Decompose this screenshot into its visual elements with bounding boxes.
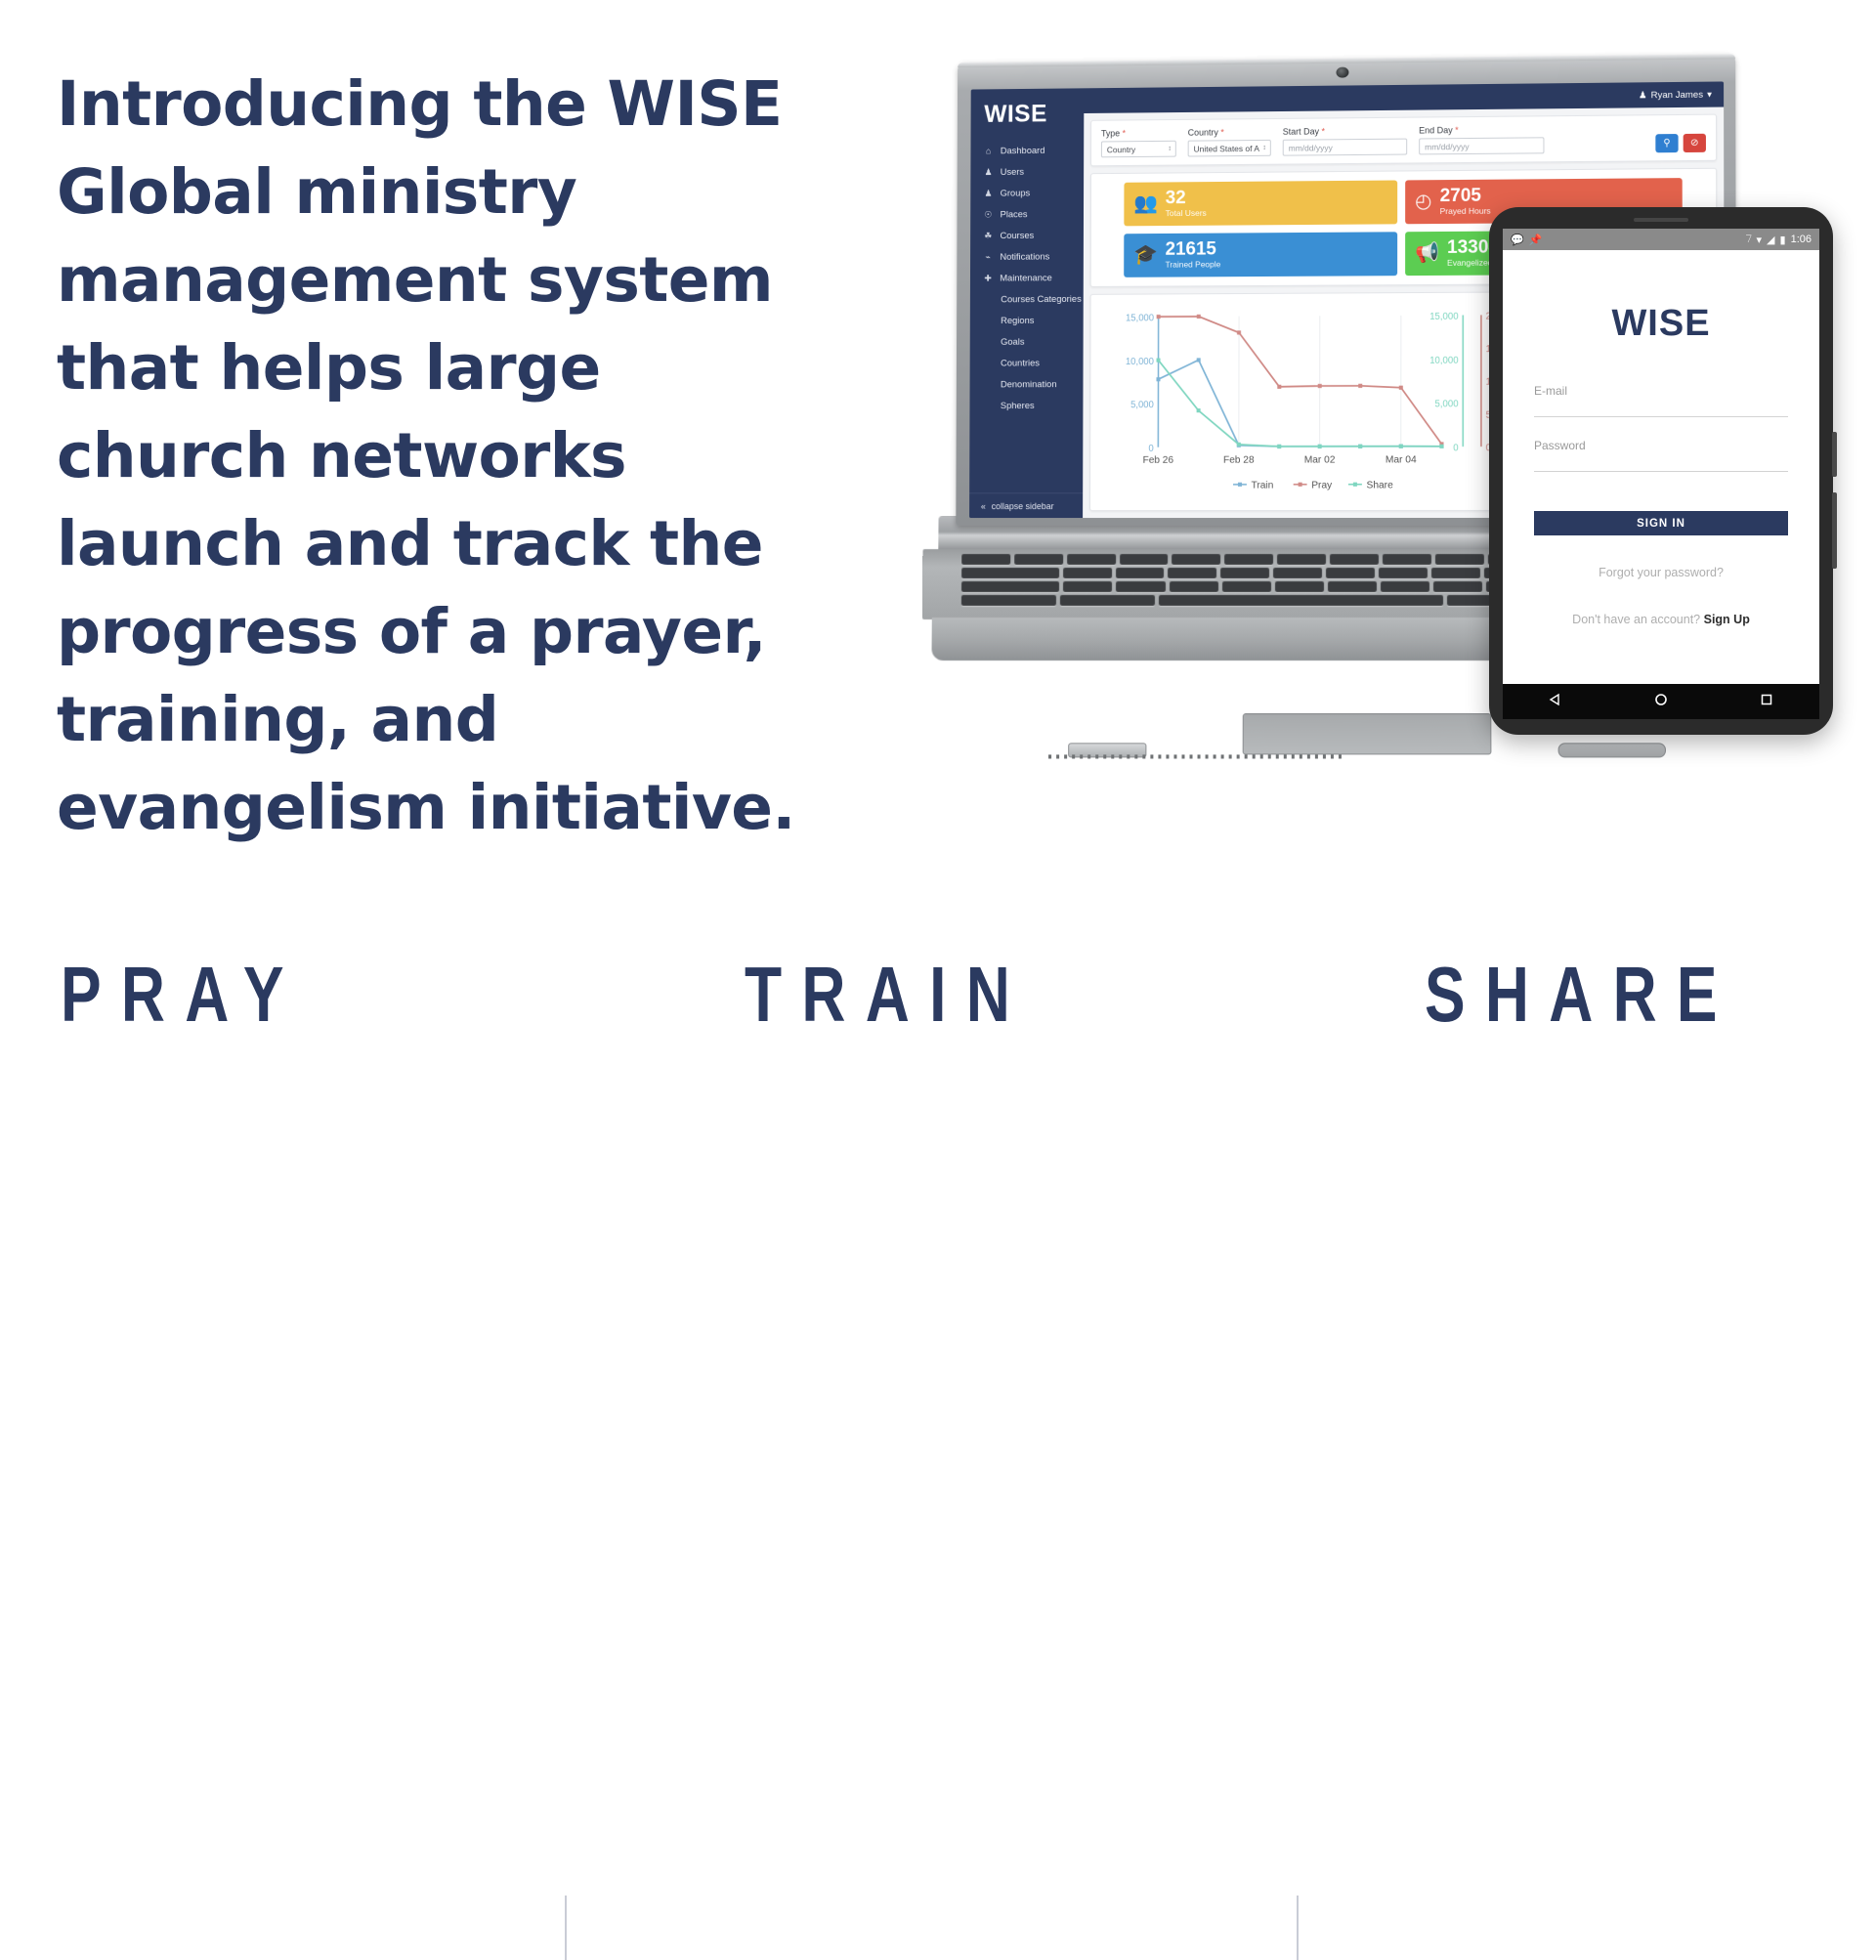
sidebar-item-label: Maintenance (1000, 273, 1051, 283)
filter-type: Type * Country↕ (1101, 128, 1176, 157)
laptop-vents (1048, 754, 1343, 758)
svg-text:Feb 26: Feb 26 (1143, 454, 1174, 465)
sidebar-item-label: Places (1001, 209, 1028, 220)
filter-bar: Type * Country↕ Country * United States … (1090, 114, 1717, 167)
sidebar-item-label: Courses (1000, 230, 1034, 240)
user-name: Ryan James (1651, 89, 1703, 101)
password-input-underline[interactable] (1534, 452, 1788, 472)
filter-label: Type * (1101, 128, 1176, 139)
sidebar-item-regions[interactable]: Regions (970, 310, 1084, 331)
filter-end-day: End Day * mm/dd/yyyy (1419, 124, 1544, 154)
sidebar-nav: ⌂Dashboard ♟Users ♟Groups ☉Places ☘Cours… (970, 140, 1084, 289)
stat-label: Evangelized (1447, 257, 1492, 267)
end-day-input[interactable]: mm/dd/yyyy (1419, 137, 1544, 154)
wifi-icon: ▾ (1757, 234, 1763, 246)
svg-text:Train: Train (1252, 480, 1274, 490)
webcam-icon (1336, 67, 1348, 78)
sign-up-link[interactable]: Sign Up (1704, 613, 1750, 626)
svg-text:10,000: 10,000 (1126, 357, 1155, 367)
svg-text:15,000: 15,000 (1126, 313, 1155, 323)
filter-label: End Day * (1419, 124, 1544, 135)
stat-label: Total Users (1166, 208, 1207, 218)
required-marker: * (1322, 126, 1326, 136)
page-title: Introducing the WISE Global ministry man… (57, 61, 877, 852)
recents-button[interactable] (1759, 692, 1774, 712)
place-pin-icon: ☉ (983, 209, 994, 220)
footer-bar: PRAY TRAIN SHARE (0, 933, 1876, 1055)
start-day-placeholder: mm/dd/yyyy (1289, 143, 1333, 152)
app-logo: WISE (971, 88, 1085, 140)
email-label: E-mail (1534, 384, 1788, 398)
svg-text:10,000: 10,000 (1429, 355, 1459, 365)
plus-icon: ✚ (983, 273, 994, 283)
select-arrows-icon: ↕ (1262, 145, 1265, 151)
filter-label: Country * (1188, 127, 1271, 138)
forgot-password-link[interactable]: Forgot your password? (1534, 566, 1788, 579)
sidebar-item-courses-categories[interactable]: Courses Categories (970, 288, 1084, 310)
status-time: 1:06 (1791, 234, 1812, 245)
svg-text:Pray: Pray (1311, 480, 1333, 490)
user-icon: ♟ (1639, 90, 1647, 101)
country-select[interactable]: United States of A↕ (1188, 140, 1271, 157)
users-icon: ♟ (983, 167, 994, 178)
phone-speaker (1634, 218, 1688, 222)
email-input-underline[interactable] (1534, 398, 1788, 417)
sidebar-item-notifications[interactable]: ⌁Notifications (970, 245, 1084, 267)
sidebar-item-label: Notifications (1000, 251, 1049, 262)
message-icon: 💬 (1511, 234, 1524, 246)
stat-card-total-users[interactable]: 👥 32 Total Users (1124, 181, 1397, 227)
signal-icon: ◢ (1767, 234, 1774, 246)
stat-value: 2705 (1440, 187, 1491, 206)
phone-power-button[interactable] (1832, 432, 1837, 477)
required-marker: * (1220, 127, 1223, 137)
password-field[interactable]: Password (1534, 439, 1788, 472)
bell-icon: ⌁ (983, 251, 994, 262)
stat-value: 32 (1166, 189, 1207, 208)
courses-icon: ☘ (983, 231, 994, 241)
svg-text:0: 0 (1148, 444, 1154, 454)
home-button[interactable] (1653, 692, 1669, 712)
laptop-lid-edge (958, 54, 1735, 67)
cancel-icon: ⊘ (1690, 138, 1699, 149)
graduation-cap-icon: 🎓 (1133, 245, 1158, 265)
svg-text:Feb 28: Feb 28 (1223, 454, 1255, 465)
svg-text:15,000: 15,000 (1429, 311, 1459, 321)
type-select[interactable]: Country↕ (1101, 141, 1176, 158)
stat-label: Trained People (1166, 259, 1221, 269)
password-label: Password (1534, 439, 1788, 452)
slide-canvas: Introducing the WISE Global ministry man… (0, 0, 1876, 1055)
pin-icon: 📌 (1529, 234, 1543, 246)
footer-divider (565, 1896, 567, 1960)
phone-app-logo: WISE (1534, 303, 1788, 345)
caret-down-icon[interactable]: ▾ (1707, 89, 1712, 100)
filter-start-day: Start Day * mm/dd/yyyy (1283, 126, 1407, 156)
dashboard-icon: ⌂ (983, 146, 994, 155)
collapse-sidebar-button[interactable]: « collapse sidebar (969, 492, 1083, 518)
laptop-trackpad (1243, 713, 1492, 754)
signup-row: Don't have an account? Sign Up (1534, 613, 1788, 626)
sidebar-subnav: Courses Categories Regions Goals Countri… (969, 288, 1083, 416)
stat-label: Prayed Hours (1440, 206, 1491, 216)
sidebar-item-spheres[interactable]: Spheres (969, 395, 1083, 416)
svg-text:Mar 02: Mar 02 (1304, 454, 1336, 465)
type-select-value: Country (1107, 145, 1135, 154)
megaphone-icon: 📢 (1415, 243, 1439, 263)
chart-canvas: 05,00010,00015,00005,00010,00015,0000500… (1098, 302, 1552, 506)
svg-text:5,000: 5,000 (1130, 400, 1154, 410)
collapse-sidebar-label: collapse sidebar (992, 501, 1054, 511)
sidebar-item-label: Groups (1001, 188, 1031, 198)
users-group-icon: 👥 (1133, 194, 1158, 214)
end-day-placeholder: mm/dd/yyyy (1425, 142, 1469, 151)
filter-country: Country * United States of A↕ (1188, 127, 1271, 157)
double-chevron-left-icon: « (981, 501, 986, 511)
footer-word-pray: PRAY (61, 933, 304, 1055)
back-button[interactable] (1548, 692, 1563, 712)
search-icon: ⚲ (1663, 138, 1670, 149)
app-sidebar: WISE ⌂Dashboard ♟Users ♟Groups ☉Places ☘… (969, 88, 1084, 518)
sidebar-item-places[interactable]: ☉Places (970, 203, 1084, 226)
bluetooth-icon: ᜪ (1746, 234, 1752, 246)
sidebar-item-label: Dashboard (1001, 145, 1045, 155)
clear-button[interactable]: ⊘ (1684, 134, 1706, 152)
groups-icon: ♟ (983, 188, 994, 198)
sidebar-item-label: Users (1001, 166, 1024, 177)
sidebar-item-groups[interactable]: ♟Groups (970, 182, 1084, 204)
required-marker: * (1455, 125, 1459, 135)
phone-status-bar: 💬 📌 ᜪ ▾ ◢ ▮ 1:06 (1503, 229, 1819, 250)
svg-text:0: 0 (1453, 443, 1459, 453)
sidebar-item-users[interactable]: ♟Users (970, 160, 1084, 183)
svg-text:Mar 04: Mar 04 (1386, 454, 1417, 465)
svg-text:Share: Share (1367, 480, 1394, 490)
svg-text:5,000: 5,000 (1435, 399, 1460, 409)
footer-divider (1297, 1896, 1299, 1960)
phone-volume-button[interactable] (1832, 492, 1837, 569)
search-button[interactable]: ⚲ (1655, 134, 1678, 152)
stat-card-trained-people[interactable]: 🎓 21615 Trained People (1124, 232, 1397, 277)
phone-screen: 💬 📌 ᜪ ▾ ◢ ▮ 1:06 WISE E-mail Password (1503, 229, 1819, 684)
stat-value: 21615 (1166, 239, 1221, 259)
clock-icon: ◴ (1415, 192, 1431, 212)
footer-word-share: SHARE (1425, 933, 1737, 1055)
filter-label: Start Day * (1283, 126, 1407, 137)
select-arrows-icon: ↕ (1168, 146, 1171, 152)
sidebar-item-goals[interactable]: Goals (970, 331, 1084, 353)
battery-icon: ▮ (1780, 234, 1786, 246)
phone-mockup: 💬 📌 ᜪ ▾ ◢ ▮ 1:06 WISE E-mail Password (1489, 207, 1833, 735)
login-form: WISE E-mail Password SIGN IN Forgot your… (1503, 303, 1819, 626)
sign-in-button[interactable]: SIGN IN (1534, 511, 1788, 535)
sidebar-item-denomination[interactable]: Denomination (970, 373, 1084, 395)
sidebar-item-courses[interactable]: ☘Courses (970, 225, 1084, 247)
sidebar-item-countries[interactable]: Countries (970, 352, 1084, 373)
start-day-input[interactable]: mm/dd/yyyy (1283, 139, 1407, 156)
phone-nav-bar (1503, 684, 1819, 719)
email-field[interactable]: E-mail (1534, 384, 1788, 417)
sidebar-item-maintenance[interactable]: ✚Maintenance (970, 267, 1084, 288)
footer-word-train: TRAIN (745, 933, 1030, 1055)
country-select-value: United States of A (1194, 143, 1259, 153)
sidebar-item-dashboard[interactable]: ⌂Dashboard (970, 140, 1084, 162)
no-account-text: Don't have an account? (1572, 613, 1700, 626)
required-marker: * (1123, 128, 1126, 138)
laptop-latch-right (1558, 743, 1666, 757)
